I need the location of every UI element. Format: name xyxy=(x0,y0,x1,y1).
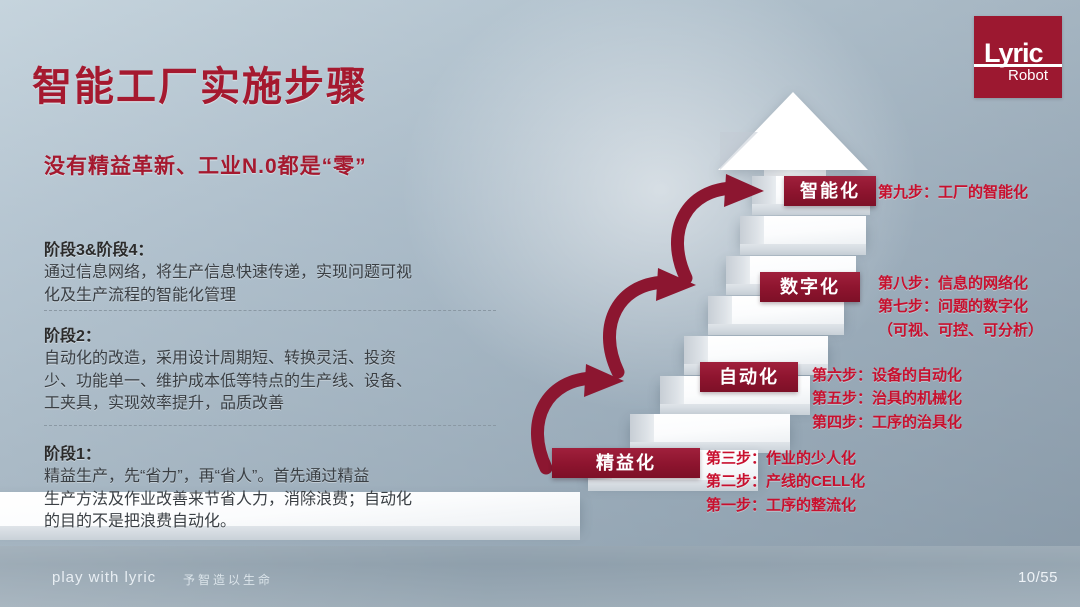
stage-2-line-3: 工夹具，实现效率提升，品质改善 xyxy=(44,393,494,416)
logo-subtext: Robot xyxy=(1008,68,1048,83)
stage-divider-lower xyxy=(44,425,496,426)
footer-tagline-cn: 予智造以生命 xyxy=(183,571,273,588)
stage-divider-upper xyxy=(44,310,496,311)
note-step-8: 第八步：信息的网络化 xyxy=(878,272,1043,295)
stage-3-4-heading: 阶段3&阶段4： xyxy=(44,236,494,260)
banner-lean: 精益化 xyxy=(552,448,700,478)
note-step-3: 第三步：作业的少人化 xyxy=(706,447,865,470)
banner-digital: 数字化 xyxy=(760,272,860,302)
slide-canvas: 智能化 数字化 自动化 精益化 智能工厂实施步骤 没有精益革新、工业N.0都是“… xyxy=(0,0,1080,607)
note-step-6: 第六步：设备的自动化 xyxy=(812,364,962,387)
curved-arrow-digital-to-intelligent xyxy=(668,174,788,284)
logo-wordmark: Lyric xyxy=(984,40,1043,67)
stage-3-4-line-2: 化及生产流程的智能化管理 xyxy=(44,285,494,308)
stage-1-line-1: 精益生产，先“省力”，再“省人”。首先通过精益 xyxy=(44,466,494,489)
page-subtitle: 没有精益革新、工业N.0都是“零” xyxy=(44,150,367,180)
banner-intelligent: 智能化 xyxy=(784,176,876,206)
stage-1-heading: 阶段1： xyxy=(44,440,494,464)
floor-sheen xyxy=(0,546,1080,607)
note-group-automation: 第六步：设备的自动化 第五步：治具的机械化 第四步：工序的治具化 xyxy=(812,364,962,434)
note-group-lean: 第三步：作业的少人化 第二步：产线的CELL化 第一步：工序的整流化 xyxy=(706,447,865,517)
note-step-4: 第四步：工序的治具化 xyxy=(812,411,962,434)
stage-3-4-line-1: 通过信息网络，将生产信息快速传递，实现问题可视 xyxy=(44,262,494,285)
stage-block-1: 阶段1： 精益生产，先“省力”，再“省人”。首先通过精益 生产方法及作业改善来节… xyxy=(44,440,494,534)
stage-2-line-2: 少、功能单一、维护成本低等特点的生产线、设备、 xyxy=(44,371,494,394)
stage-block-3-4: 阶段3&阶段4： 通过信息网络，将生产信息快速传递，实现问题可视 化及生产流程的… xyxy=(44,236,494,307)
note-group-intelligent: 第九步：工厂的智能化 xyxy=(878,181,1028,204)
stage-2-heading: 阶段2： xyxy=(44,322,494,346)
note-step-1: 第一步：工序的整流化 xyxy=(706,494,865,517)
page-title: 智能工厂实施步骤 xyxy=(32,54,368,112)
stage-1-line-2: 生产方法及作业改善来节省人力，消除浪费；自动化 xyxy=(44,489,494,512)
lyric-robot-logo: Lyric Robot xyxy=(974,16,1062,98)
note-step-9: 第九步：工厂的智能化 xyxy=(878,181,1028,204)
step-block-3 xyxy=(630,414,790,442)
footer-tagline-en: play with lyric xyxy=(52,569,156,586)
stage-1-line-3: 的目的不是把浪费自动化。 xyxy=(44,511,494,534)
note-step-2: 第二步：产线的CELL化 xyxy=(706,470,865,493)
page-number: 10/55 xyxy=(1018,569,1058,586)
stage-2-line-1: 自动化的改造，采用设计周期短、转换灵活、投资 xyxy=(44,348,494,371)
note-group-digital: 第八步：信息的网络化 第七步：问题的数字化 （可视、可控、可分析） xyxy=(878,272,1043,342)
stage-block-2: 阶段2： 自动化的改造，采用设计周期短、转换灵活、投资 少、功能单一、维护成本低… xyxy=(44,322,494,416)
note-step-5: 第五步：治具的机械化 xyxy=(812,387,962,410)
note-step-7: 第七步：问题的数字化 xyxy=(878,295,1043,318)
banner-automation: 自动化 xyxy=(700,362,798,392)
note-digital-detail: （可视、可控、可分析） xyxy=(878,319,1043,342)
